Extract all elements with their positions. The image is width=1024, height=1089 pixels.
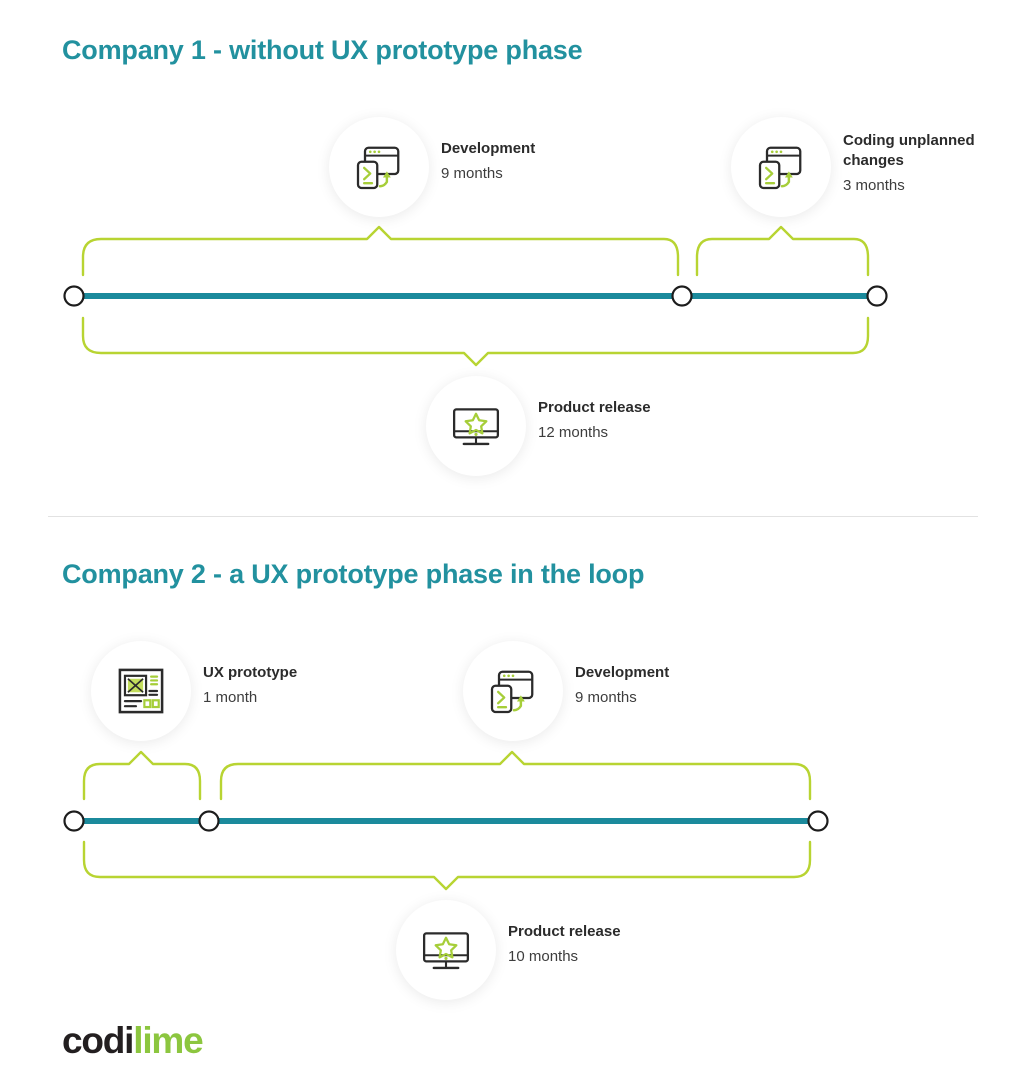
milestone-duration: 1 month [203,688,297,708]
milestone-icon-bubble [91,641,191,741]
monitor-star-icon [418,922,474,978]
milestone-icon-bubble [396,900,496,1000]
milestone-product-release-company-2: Product release 10 months [396,900,621,1000]
logo-part-lime: lime [133,1020,202,1061]
milestone-name: Development [575,663,669,683]
bracket-ux-prototype-company-2 [84,752,200,799]
milestone-text: Product release 10 months [508,900,621,967]
milestone-text: Coding unplanned changes 3 months [843,117,1008,195]
timeline-node-end-company-1 [868,287,887,306]
milestone-icon-bubble [329,117,429,217]
codilime-logo: codilime [62,1022,203,1059]
milestone-development-company-1: Development 9 months [329,117,535,217]
milestone-duration: 12 months [538,423,651,443]
section-title-company-1: Company 1 - without UX prototype phase [62,35,582,66]
section-title-company-2: Company 2 - a UX prototype phase in the … [62,559,644,590]
milestone-text: UX prototype 1 month [203,641,297,708]
timeline-node-start-company-2 [65,812,84,831]
milestone-development-company-2: Development 9 months [463,641,669,741]
timeline-node-start-company-1 [65,287,84,306]
bracket-product-release-company-2 [84,842,810,889]
milestone-name: Coding unplanned changes [843,131,1008,171]
milestone-name: Development [441,139,535,159]
milestone-icon-bubble [463,641,563,741]
bracket-product-release-company-1 [83,318,868,365]
milestone-icon-bubble [731,117,831,217]
code-window-icon [753,139,809,195]
milestone-product-release-company-1: Product release 12 months [426,376,651,476]
milestone-ux-prototype-company-2: UX prototype 1 month [91,641,297,741]
milestone-duration: 3 months [843,176,1008,196]
milestone-name: UX prototype [203,663,297,683]
milestone-name: Product release [508,922,621,942]
monitor-star-icon [448,398,504,454]
milestone-duration: 9 months [575,688,669,708]
logo-part-codi: codi [62,1020,133,1061]
milestone-name: Product release [538,398,651,418]
milestone-text: Product release 12 months [538,376,651,443]
milestone-coding-unplanned-changes-company-1: Coding unplanned changes 3 months [731,117,1008,217]
milestone-duration: 9 months [441,164,535,184]
milestone-text: Development 9 months [441,117,535,184]
section-divider [48,516,978,517]
milestone-text: Development 9 months [575,641,669,708]
milestone-duration: 10 months [508,947,621,967]
bracket-development-company-1 [83,227,678,275]
code-window-icon [351,139,407,195]
timeline-node-end-company-2 [809,812,828,831]
milestone-icon-bubble [426,376,526,476]
infographic-page: Company 1 - without UX prototype phase [0,0,1024,1089]
code-window-icon [485,663,541,719]
timeline-node-mid-company-2 [200,812,219,831]
bracket-development-company-2 [221,752,810,799]
wireframe-icon [114,664,168,718]
bracket-coding-unplanned-changes-company-1 [697,227,868,275]
timeline-node-mid-company-1 [673,287,692,306]
